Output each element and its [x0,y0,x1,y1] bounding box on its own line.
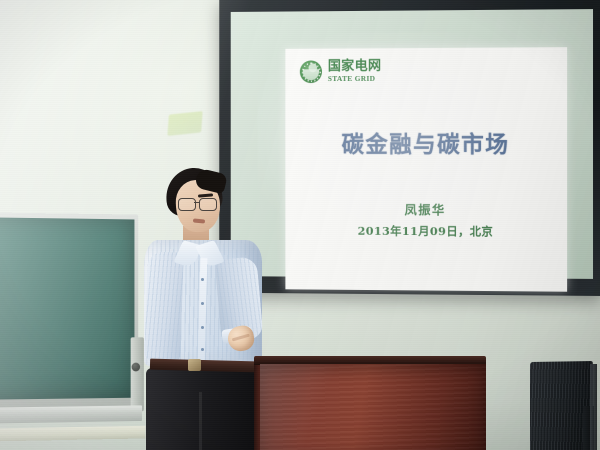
eyeglasses-icon [178,198,220,210]
lectern-front-panel [260,364,486,450]
eyeglass-lens-left [178,198,196,211]
belt-buckle [188,359,201,371]
lecture-photo-scene: 国家电网 STATE GRID 碳金融与碳市场 凤振华 2013年11月09日，… [0,0,600,450]
eyeglass-lens-right [199,198,217,211]
presenter-left-arm [144,251,184,362]
monitor-side-edge [590,364,597,450]
presenter-trousers [146,368,260,450]
trouser-seam [199,392,202,450]
wooden-lectern [254,356,486,450]
computer-monitor-rear [530,362,600,450]
